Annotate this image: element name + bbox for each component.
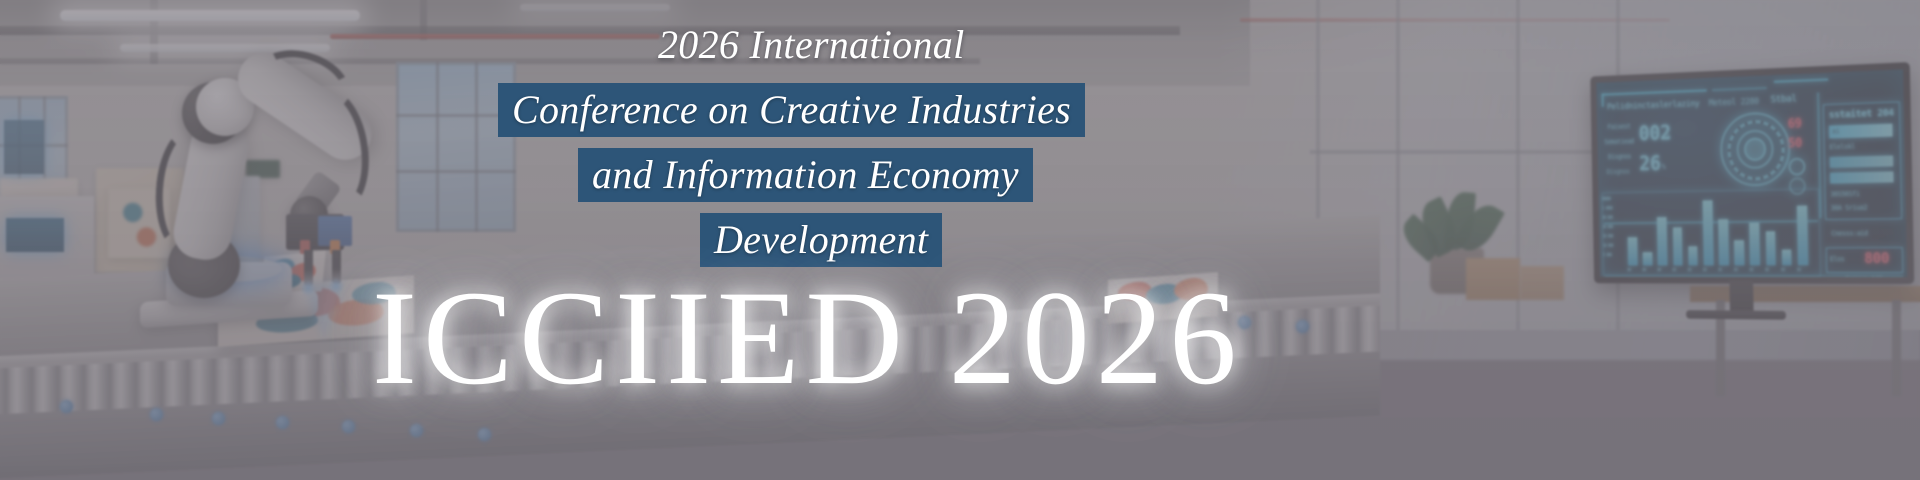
conference-banner: Pelidninctaslerlaziny Meteol 2280 Stbal … [0,0,1920,480]
title-line-3: and Information Economy [578,148,1033,202]
title-line-4: Development [700,213,942,267]
banner-text-layer: 2026 International Conference on Creativ… [0,0,1920,480]
conference-acronym: ICCIIED 2026 [372,268,1192,410]
title-line-1: 2026 International [658,18,965,72]
title-line-2: Conference on Creative Industries [498,83,1085,137]
